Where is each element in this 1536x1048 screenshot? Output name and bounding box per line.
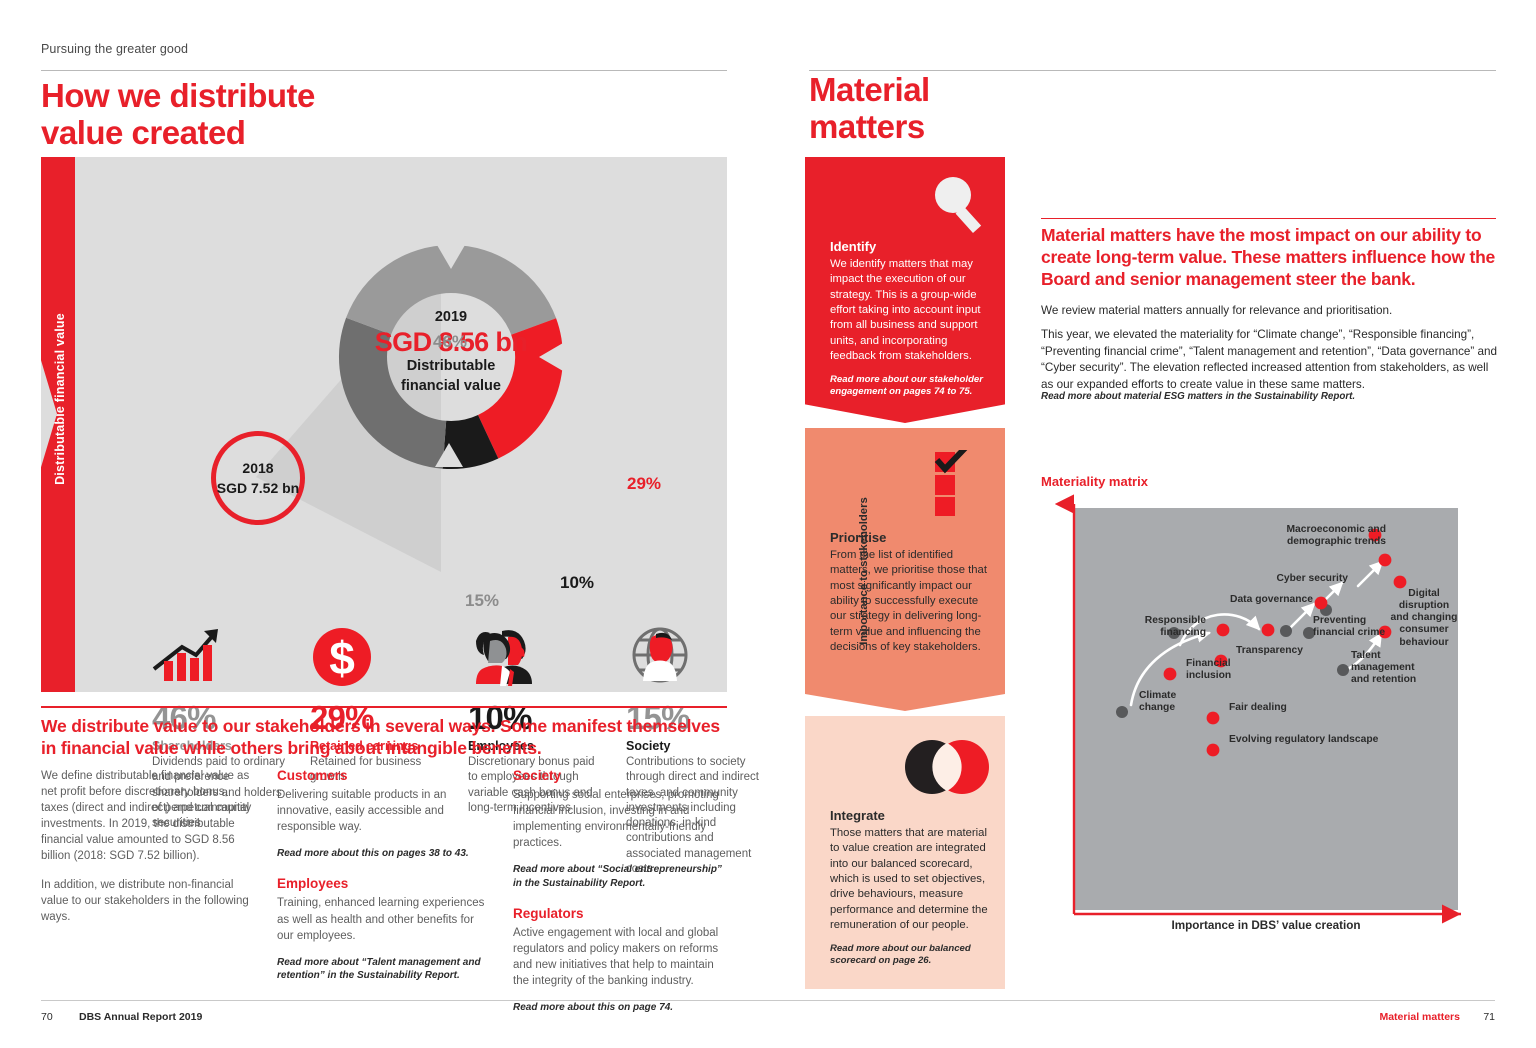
donut-label-retained: 29% — [627, 474, 661, 494]
integrate-text: Integrate Those matters that are materia… — [830, 808, 990, 968]
report-spread: Pursuing the greater good How we distrib… — [0, 0, 1536, 1048]
bar-chart-growth-icon — [152, 625, 291, 691]
material-matters-read-more[interactable]: Read more about material ESG matters in … — [1041, 391, 1503, 402]
matrix-label-line: and retention — [1351, 674, 1443, 686]
venn-circles-icon — [903, 738, 991, 796]
matrix-label-line: management — [1351, 662, 1443, 674]
matrix-label-line: financing — [1118, 627, 1206, 639]
subheading-society: Society — [513, 768, 727, 783]
material-matters-lead: Material matters have the most impact on… — [1041, 224, 1503, 290]
checklist-icon — [933, 450, 983, 516]
magnifier-icon — [929, 173, 991, 235]
matrix-label-line: financial crime — [1313, 627, 1409, 639]
society-body: Supporting social enterprises, promoting… — [513, 787, 727, 851]
definition-paragraph-1: We define distributable financial value … — [41, 768, 255, 865]
identify-text: Identify We identify matters that may im… — [830, 239, 990, 399]
matrix-label-fair-dealing: Fair dealing — [1229, 702, 1287, 714]
dot-fair-dealing — [1207, 712, 1220, 725]
prev-dot-data-governance — [1280, 625, 1292, 637]
identify-body: We identify matters that may impact the … — [830, 257, 990, 365]
prioritise-text: Prioritise From the list of identified m… — [830, 530, 990, 656]
prev-dot-talent-management — [1337, 664, 1349, 676]
svg-text:$: $ — [329, 632, 355, 684]
dot-digital-disruption — [1394, 576, 1407, 589]
matrix-label-line: demographic trends — [1266, 536, 1386, 548]
page-title-line2: value created — [41, 115, 315, 152]
matrix-label-financial-inclusion: Financial inclusion — [1186, 658, 1231, 682]
footer-text-left: DBS Annual Report 2019 — [79, 1011, 202, 1023]
matrix-label-line: inclusion — [1186, 670, 1231, 682]
dot-data-governance — [1315, 597, 1328, 610]
subheading-employees: Employees — [277, 876, 491, 891]
prev-year-label: 2018 — [242, 460, 273, 476]
matrix-label-line: Climate — [1139, 690, 1176, 702]
matrix-label-talent-management: Talent management and retention — [1351, 650, 1443, 686]
stakeholder-columns: We define distributable financial value … — [41, 768, 731, 1014]
subheading-regulators: Regulators — [513, 906, 727, 921]
process-banner-identify: Identify We identify matters that may im… — [805, 157, 1005, 423]
integrate-body: Those matters that are material to value… — [830, 826, 990, 934]
society-read-more[interactable]: Read more about “Social entrepreneurship… — [513, 863, 727, 889]
matrix-label-line: change — [1139, 702, 1176, 714]
section-rule — [41, 706, 727, 708]
header-rule — [41, 70, 727, 71]
material-matters-para-1: We review material matters annually for … — [1041, 303, 1503, 320]
definition-paragraph-2: In addition, we distribute non-financial… — [41, 877, 255, 925]
donut-center: 2019 SGD 8.56 bn Distributable financial… — [356, 309, 546, 395]
left-page: Pursuing the greater good How we distrib… — [0, 0, 768, 1048]
right-page-title: Material matters — [809, 72, 930, 146]
process-banner-integrate: Integrate Those matters that are materia… — [805, 716, 1005, 989]
material-matters-rule — [1041, 218, 1496, 219]
matrix-label-line: Preventing — [1313, 615, 1409, 627]
donut-sub-line1: Distributable — [356, 358, 546, 375]
donut-sub-line2: financial value — [356, 378, 546, 395]
page-title: How we distribute value created — [41, 78, 315, 152]
material-matters-para-2: This year, we elevated the materiality f… — [1041, 327, 1503, 393]
footer-page-left: 70 — [41, 1011, 53, 1023]
matrix-label-data-governance: Data governance — [1210, 594, 1313, 606]
matrix-label-line: Digital — [1380, 588, 1468, 600]
matrix-label-evolving-regulatory: Evolving regulatory landscape — [1229, 734, 1378, 746]
regulators-read-more[interactable]: Read more about this on page 74. — [513, 1001, 727, 1014]
prev-year-circle: 2018 SGD 7.52 bn — [211, 431, 305, 525]
matrix-label-line: Responsible — [1118, 615, 1206, 627]
matrix-label-line: Macroeconomic and — [1266, 524, 1386, 536]
donut-year: 2019 — [356, 309, 546, 325]
matrix-label-climate-change: Climate change — [1139, 690, 1176, 714]
dot-evolving-regulatory-landscape — [1207, 744, 1220, 757]
dot-cyber-security — [1379, 554, 1392, 567]
matrix-label-cyber-security: Cyber security — [1268, 573, 1348, 585]
matrix-title: Materiality matrix — [1041, 474, 1148, 489]
process-banner-prioritise: Prioritise From the list of identified m… — [805, 428, 1005, 711]
right-title-line2: matters — [809, 109, 930, 146]
two-people-icon — [468, 625, 607, 691]
integrate-heading: Integrate — [830, 808, 990, 823]
matrix-label-line: disruption — [1380, 600, 1468, 612]
right-page: Material matters Identify We identify ma… — [768, 0, 1536, 1048]
dot-preventing-financial-crime — [1262, 624, 1275, 637]
matrix-label-macroeconomic: Macroeconomic and demographic trends — [1266, 524, 1386, 548]
donut-label-society: 15% — [465, 591, 499, 611]
value-distribution-infographic: Distributable financial value 2018 SGD 7… — [41, 157, 727, 692]
distribution-donut-chart: 2019 SGD 8.56 bn Distributable financial… — [301, 207, 601, 497]
matrix-label-transparency: Transparency — [1236, 645, 1303, 657]
subheading-customers: Customers — [277, 768, 491, 783]
prioritise-body: From the list of identified matters, we … — [830, 548, 990, 656]
prev-year-value: SGD 7.52 bn — [217, 480, 299, 496]
section-lead: We distribute value to our stakeholders … — [41, 715, 731, 760]
dot-responsible-financing — [1217, 624, 1230, 637]
matrix-label-line: Financial — [1186, 658, 1231, 670]
column-society-regulators: Society Supporting social enterprises, p… — [513, 768, 727, 1014]
customers-body: Delivering suitable products in an innov… — [277, 787, 491, 835]
globe-person-icon — [626, 625, 765, 691]
footer-rule — [41, 1000, 1495, 1001]
prioritise-heading: Prioritise — [830, 530, 990, 545]
page-title-line1: How we distribute — [41, 78, 315, 115]
integrate-read-more[interactable]: Read more about our balanced scorecard o… — [830, 943, 990, 968]
matrix-label-responsible-financing: Responsible financing — [1118, 615, 1206, 639]
matrix-label-line: Talent — [1351, 650, 1443, 662]
employees-body: Training, enhanced learning experiences … — [277, 895, 491, 943]
donut-label-shareholders: 46% — [433, 332, 467, 352]
customers-read-more[interactable]: Read more about this on pages 38 to 43. — [277, 847, 491, 860]
column-customers-employees: Customers Delivering suitable products i… — [277, 768, 491, 1014]
donut-label-employees: 10% — [560, 573, 594, 593]
dot-financial-inclusion — [1164, 668, 1177, 681]
footer-page-right: 71 — [1483, 1011, 1495, 1023]
matrix-current-dots — [1164, 529, 1407, 757]
footer-text-right: Material matters — [1379, 1011, 1460, 1023]
regulators-body: Active engagement with local and global … — [513, 925, 727, 989]
prev-dot-climate-change — [1116, 706, 1128, 718]
running-head: Pursuing the greater good — [41, 42, 188, 56]
identify-read-more[interactable]: Read more about our stakeholder engageme… — [830, 374, 990, 399]
dollar-coin-icon: $ — [310, 625, 449, 691]
right-title-line1: Material — [809, 72, 930, 109]
column-definition: We define distributable financial value … — [41, 768, 255, 1014]
employees-read-more[interactable]: Read more about “Talent management and r… — [277, 956, 491, 982]
matrix-label-preventing-financial-crime: Preventing financial crime — [1313, 615, 1409, 639]
identify-heading: Identify — [830, 239, 990, 254]
matrix-y-axis-label: Importance to stakeholders — [858, 451, 870, 691]
matrix-chart-svg — [1033, 490, 1473, 940]
